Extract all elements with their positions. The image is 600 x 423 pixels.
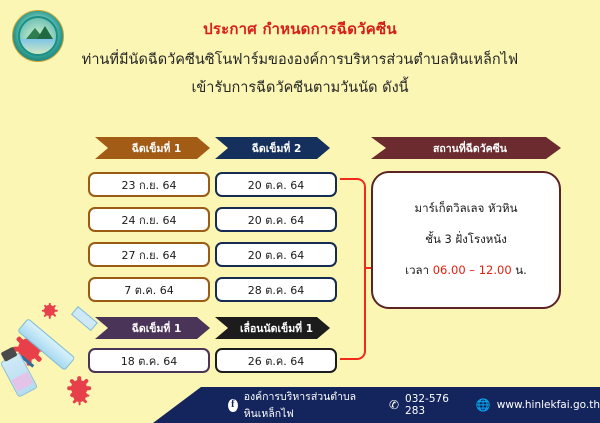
footer-facebook[interactable]: f องค์การบริหารส่วนตำบลหินเหล็กไฟ (228, 388, 365, 422)
website-label: www.hinlekfai.go.th (497, 399, 600, 411)
phone-label: 032-576 283 (405, 393, 452, 417)
table-row: 20 ต.ค. 64 (215, 242, 337, 267)
bracket-connector (340, 178, 366, 360)
page-title: ประกาศ กำหนดการฉีดวัคซีน (0, 17, 600, 41)
header-dose1-group1: ฉีดเข็มที่ 1 (95, 137, 210, 159)
syringe-plunger-icon (71, 306, 98, 331)
time-label: เวลา (405, 263, 429, 277)
facebook-icon: f (228, 399, 238, 412)
table-row: 18 ต.ค. 64 (88, 348, 210, 373)
subtitle-line-2: เข้ารับการฉีดวัคซีนตามวันนัด ดังนี้ (0, 76, 600, 99)
location-line-2: ชั้น 3 ฝั่งโรงหนัง (425, 231, 507, 249)
table-row: 24 ก.ย. 64 (88, 207, 210, 232)
header-location: สถานที่ฉีดวัคซีน (371, 137, 561, 159)
time-unit: น. (515, 263, 527, 277)
facebook-label: องค์การบริหารส่วนตำบลหินเหล็กไฟ (244, 388, 365, 422)
coronavirus-icon (73, 389, 86, 402)
footer-phone[interactable]: ✆ 032-576 283 (389, 393, 452, 417)
footer-bar: f องค์การบริหารส่วนตำบลหินเหล็กไฟ ✆ 032-… (0, 387, 600, 423)
table-row: 26 ต.ค. 64 (215, 348, 337, 373)
time-value: 06.00 – 12.00 (433, 263, 512, 277)
phone-icon: ✆ (389, 399, 399, 411)
table-row: 27 ก.ย. 64 (88, 242, 210, 267)
header-dose1-group2: ฉีดเข็มที่ 1 (95, 317, 210, 339)
table-row: 28 ต.ค. 64 (215, 277, 337, 302)
coronavirus-icon (44, 305, 55, 316)
subtitle-line-1: ท่านที่มีนัดฉีดวัคซีนซิโนฟาร์มขององค์การ… (0, 48, 600, 71)
vial-label (12, 372, 34, 392)
globe-icon: 🌐 (476, 399, 491, 411)
table-row: 20 ต.ค. 64 (215, 207, 337, 232)
table-row: 20 ต.ค. 64 (215, 172, 337, 197)
location-box: มาร์เก็ตวิลเลจ หัวหิน ชั้น 3 ฝั่งโรงหนัง… (371, 171, 561, 309)
header-postponed-group2: เลื่อนนัดเข็มที่ 1 (215, 317, 330, 339)
table-row: 23 ก.ย. 64 (88, 172, 210, 197)
location-time: เวลา 06.00 – 12.00 น. (405, 262, 527, 280)
header-dose2-group1: ฉีดเข็มที่ 2 (215, 137, 330, 159)
location-line-1: มาร์เก็ตวิลเลจ หัวหิน (415, 200, 518, 218)
table-row: 7 ต.ค. 64 (88, 277, 210, 302)
footer-website[interactable]: 🌐 www.hinlekfai.go.th (476, 399, 600, 411)
